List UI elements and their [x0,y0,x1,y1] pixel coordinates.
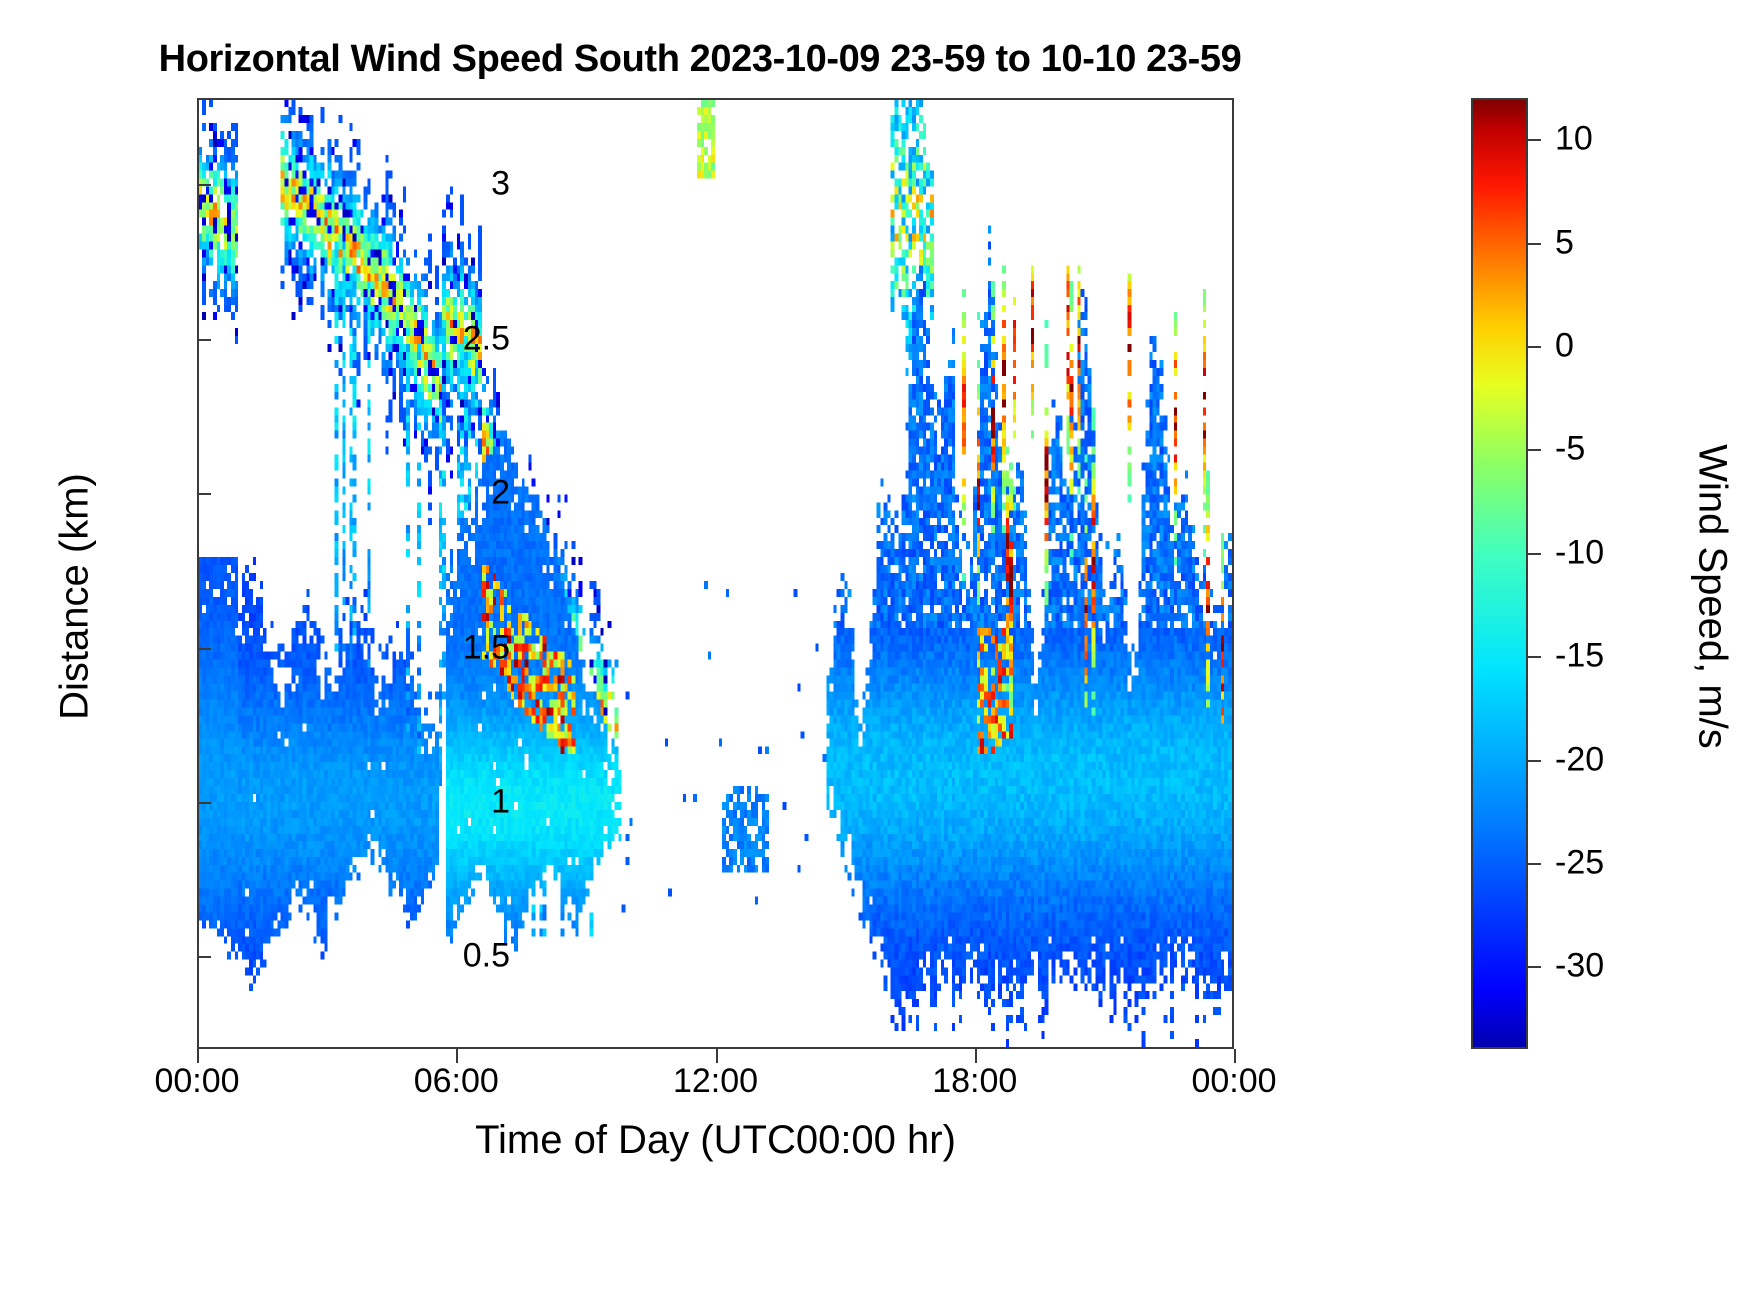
x-tick-mark [456,1049,458,1063]
chart-title: Horizontal Wind Speed South 2023-10-09 2… [0,38,1400,81]
colorbar-tick-mark [1528,553,1541,555]
colorbar-tick-label: -5 [1555,430,1585,469]
plot-area [197,98,1234,1049]
colorbar-tick-label: -10 [1555,533,1604,572]
colorbar-tick-label: -30 [1555,947,1604,986]
y-tick-mark [197,802,211,804]
colorbar-tick-mark [1528,449,1541,451]
x-tick-label: 12:00 [673,1062,758,1101]
colorbar-tick-mark [1528,760,1541,762]
colorbar-tick-mark [1528,346,1541,348]
colorbar-tick-mark [1528,966,1541,968]
x-tick-mark [975,1049,977,1063]
y-tick-mark [197,339,211,341]
x-axis-label: Time of Day (UTC00:00 hr) [197,1118,1234,1163]
y-tick-label: 1.5 [463,628,510,667]
y-tick-label: 0.5 [463,937,510,976]
x-tick-label: 18:00 [932,1062,1017,1101]
y-tick-label: 3 [491,165,510,204]
colorbar-tick-mark [1528,656,1541,658]
heatmap-image [199,100,1232,1047]
x-tick-mark [197,1049,199,1063]
colorbar-tick-label: -15 [1555,637,1604,676]
colorbar-label: Wind Speed, m/s [1690,277,1735,917]
y-tick-mark [197,648,211,650]
colorbar-tick-mark [1528,139,1541,141]
colorbar-gradient [1473,100,1526,1047]
y-tick-mark [197,493,211,495]
colorbar-tick-mark [1528,863,1541,865]
colorbar-tick-label: -20 [1555,740,1604,779]
y-tick-label: 2.5 [463,319,510,358]
y-axis-label: Distance (km) [53,277,98,917]
figure-canvas: Horizontal Wind Speed South 2023-10-09 2… [0,0,1750,1313]
x-tick-label: 00:00 [154,1062,239,1101]
colorbar-tick-label: 0 [1555,327,1574,366]
colorbar-tick-label: 10 [1555,120,1593,159]
y-tick-label: 2 [491,474,510,513]
y-tick-mark [197,184,211,186]
y-tick-label: 1 [491,782,510,821]
colorbar-tick-label: 5 [1555,223,1574,262]
x-tick-label: 06:00 [414,1062,499,1101]
y-tick-mark [197,956,211,958]
x-tick-label: 00:00 [1191,1062,1276,1101]
x-tick-mark [1234,1049,1236,1063]
colorbar [1471,98,1528,1049]
colorbar-tick-mark [1528,243,1541,245]
colorbar-tick-label: -25 [1555,843,1604,882]
x-tick-mark [716,1049,718,1063]
